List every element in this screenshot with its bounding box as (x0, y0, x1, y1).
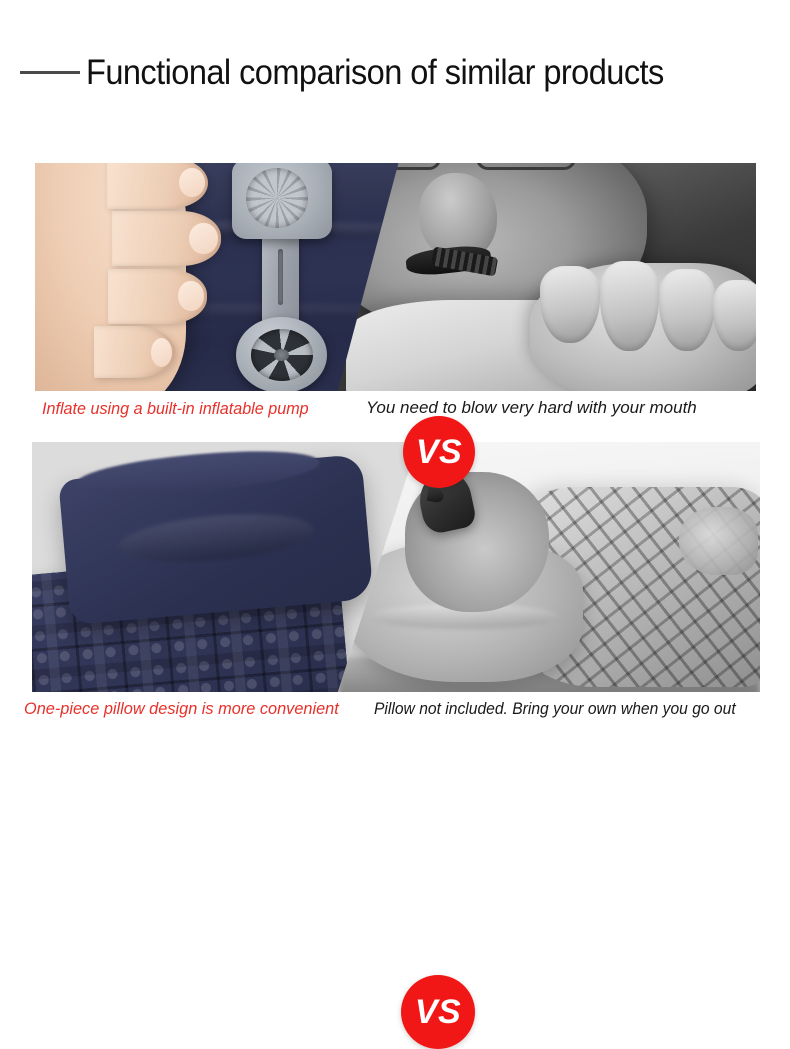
finger (94, 326, 175, 378)
vs-badge: VS (403, 416, 475, 488)
pump-cap-top (232, 163, 332, 239)
page-title: Functional comparison of similar product… (86, 55, 664, 90)
person-head (405, 472, 549, 612)
photo-canvas (338, 163, 756, 391)
title-dash-icon (20, 71, 80, 74)
finger (713, 280, 756, 351)
pump-valve-bottom (236, 317, 327, 391)
pump-cap-fins (246, 168, 308, 228)
comparison-block-pillow-design: VS (32, 442, 760, 692)
integrated-pillow (58, 454, 374, 625)
fingernail (151, 338, 172, 367)
glasses-lens-right (476, 163, 576, 170)
hand-illustration (35, 163, 186, 391)
built-in-pump-valve (227, 165, 336, 388)
vs-badge: VS (401, 975, 475, 1049)
finger (108, 269, 206, 324)
caption-built-in-pump: Inflate using a built-in inflatable pump (42, 400, 309, 417)
pump-valve-vents (251, 329, 313, 381)
comparison-photo-mouth-inflation (338, 163, 756, 391)
finger (540, 266, 601, 343)
pump-valve-hub (274, 349, 289, 361)
finger (659, 269, 715, 351)
pillow-top-ridge (75, 443, 321, 502)
page-title-row: Functional comparison of similar product… (0, 48, 790, 96)
comparison-panes (32, 442, 760, 692)
vs-badge-label: VS (415, 995, 461, 1029)
fingernail (179, 168, 205, 197)
finger (600, 261, 659, 351)
comparison-panes (35, 163, 756, 391)
person-hand (530, 263, 756, 391)
vs-badge-label: VS (416, 435, 462, 469)
comparison-block-inflation-method: VS (35, 163, 756, 391)
caption-one-piece-pillow: One-piece pillow design is more convenie… (24, 700, 339, 717)
caption-mouth-inflation: You need to blow very hard with your mou… (366, 399, 697, 416)
cap-brim (427, 488, 445, 503)
fingernail (178, 281, 204, 312)
fingernail (189, 223, 217, 254)
finger (107, 163, 209, 209)
valve-strap-slot (278, 249, 283, 304)
caption-pillow-not-included: Pillow not included. Bring your own when… (374, 700, 736, 717)
finger (112, 211, 221, 266)
person-arm (679, 507, 758, 575)
